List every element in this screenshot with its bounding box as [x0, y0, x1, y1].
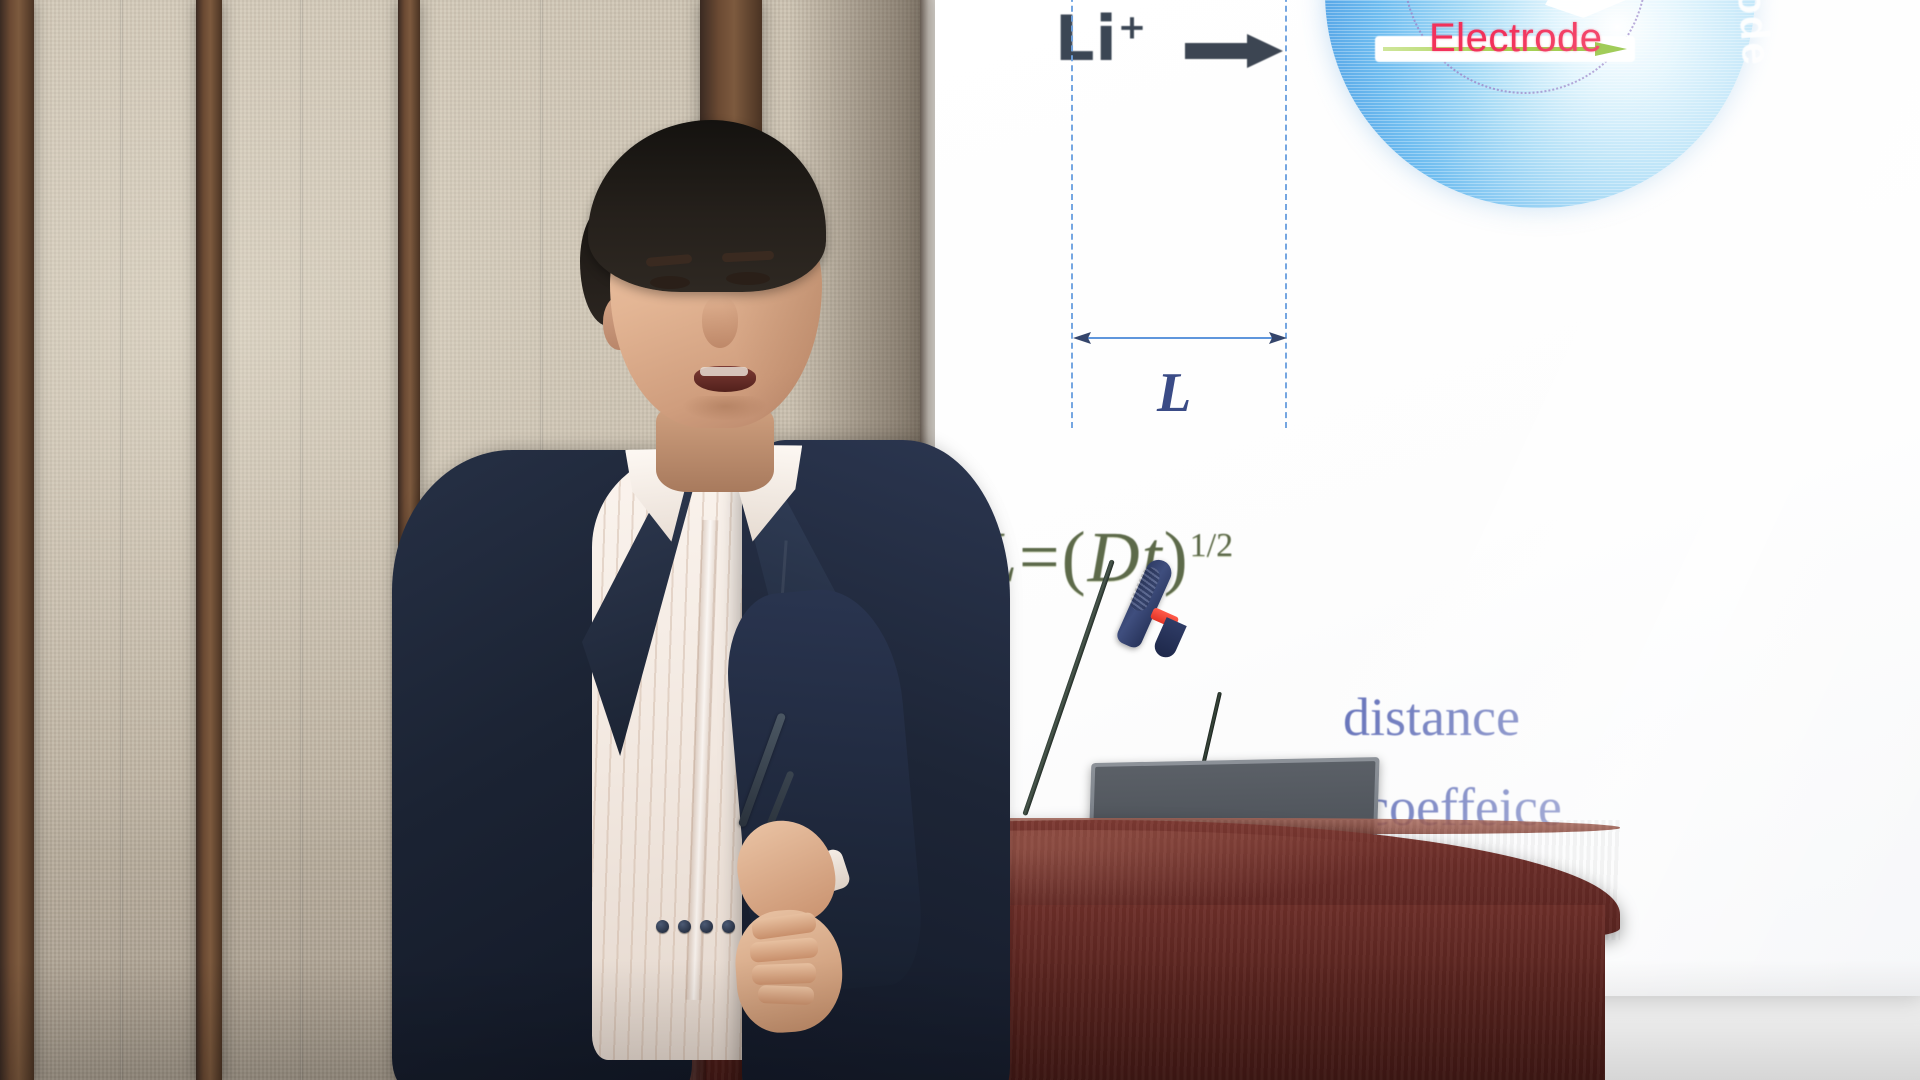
- sphere-rim-label: ode: [1728, 0, 1778, 68]
- presenter: [470, 120, 1030, 1080]
- dimension-leader-left: [1071, 0, 1073, 428]
- dimension-leader-right: [1285, 0, 1287, 428]
- wall-seam-1: [120, 0, 123, 1080]
- eye-left: [650, 276, 690, 289]
- double-headed-arrow-icon: [1073, 331, 1287, 343]
- cuff-button-4: [722, 920, 735, 933]
- teeth: [700, 367, 748, 376]
- equation-open-paren: (: [1062, 517, 1088, 597]
- nose: [702, 296, 738, 348]
- screenshot-root: Li+: [0, 0, 1920, 1080]
- lithium-ion-charge: +: [1118, 7, 1148, 47]
- equation-exponent: 1/2: [1190, 527, 1233, 564]
- wall-divider-2: [196, 0, 222, 1080]
- lithium-ion-label: Li+: [1055, 2, 1147, 75]
- cuff-button-3: [700, 920, 713, 933]
- electrode-label: Electrode: [1429, 16, 1602, 61]
- cuff-button-2: [678, 920, 691, 933]
- lithium-ion-symbol: Li: [1055, 2, 1118, 75]
- equation-close-paren: ): [1164, 517, 1190, 597]
- slide-note-distance: distance: [1343, 686, 1520, 748]
- dimension-label-L: L: [1157, 361, 1191, 425]
- cuff-button-1: [656, 920, 669, 933]
- equation-diffusivity: D: [1088, 517, 1142, 597]
- right-arrow-icon: [1185, 34, 1283, 68]
- eye-right: [726, 272, 770, 285]
- wall-divider-1: [0, 0, 34, 1080]
- hair: [588, 120, 826, 292]
- finger-4: [758, 985, 815, 1005]
- chin-shading: [666, 396, 784, 430]
- finger-3: [752, 963, 817, 985]
- wall-seam-2: [300, 0, 303, 1080]
